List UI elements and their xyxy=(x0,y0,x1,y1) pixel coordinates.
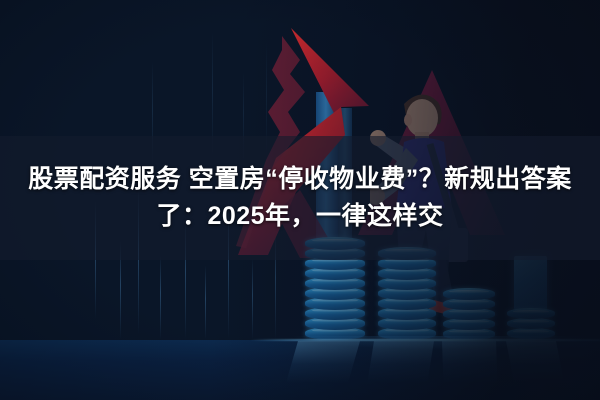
caption-text-block: 股票配资服务 空置房“停收物业费”？新规出答案 了：2025年，一律这样交 xyxy=(0,136,600,260)
caption-line-1: 股票配资服务 空置房“停收物业费”？新规出答案 xyxy=(28,164,571,195)
banner-image: 股票配资服务 空置房“停收物业费”？新规出答案 了：2025年，一律这样交 xyxy=(0,0,600,400)
caption-line-2: 了：2025年，一律这样交 xyxy=(156,201,443,232)
